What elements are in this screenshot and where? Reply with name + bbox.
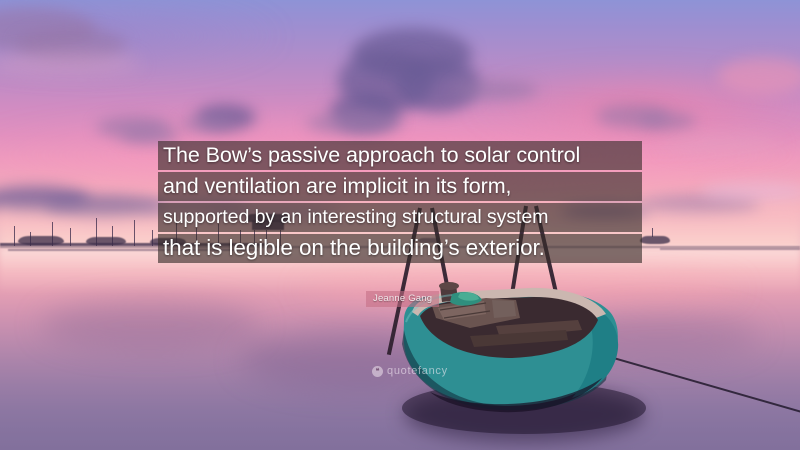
quote-line-3: supported by an interesting structural s… [158, 203, 642, 232]
quote-block: The Bow’s passive approach to solar cont… [158, 141, 642, 265]
watermark[interactable]: ❝ quotefancy [372, 365, 448, 377]
quote-line-1: The Bow’s passive approach to solar cont… [158, 141, 642, 170]
quote-author: Jeanne Gang [366, 291, 439, 307]
quote-line-2: and ventilation are implicit in its form… [158, 172, 642, 201]
watermark-brand: quotefancy [387, 365, 448, 377]
quote-line-4: that is legible on the building’s exteri… [158, 234, 642, 263]
quote-poster: The Bow’s passive approach to solar cont… [0, 0, 800, 450]
quote-badge-icon: ❝ [372, 366, 383, 377]
